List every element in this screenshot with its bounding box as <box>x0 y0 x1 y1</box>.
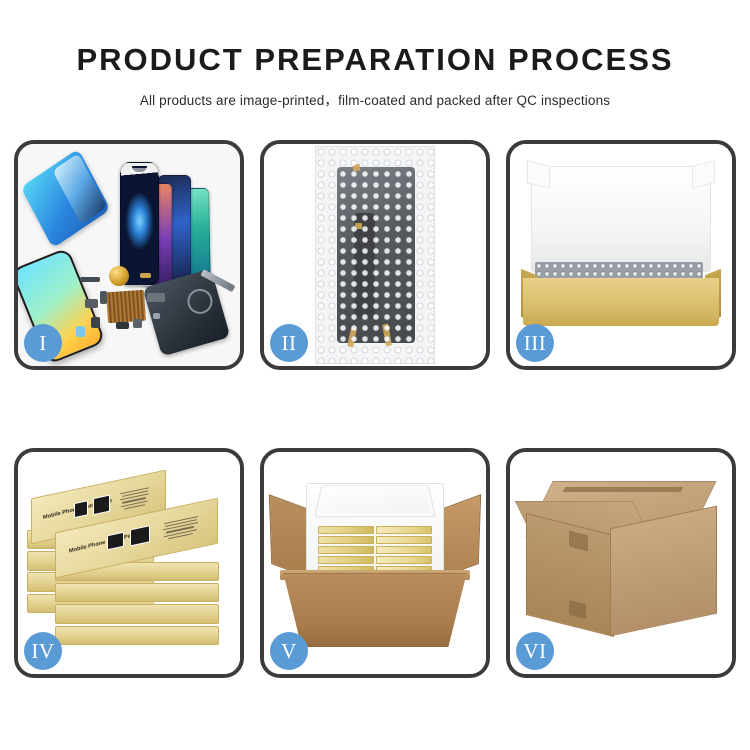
open-kraft-inner-box <box>523 166 718 326</box>
spare-part <box>140 273 151 279</box>
spare-part <box>116 322 129 330</box>
step-badge-3: III <box>516 324 554 362</box>
box-label-spec-lines <box>162 514 203 542</box>
spare-part <box>80 277 100 282</box>
retail-box-column <box>318 526 374 574</box>
carton-tape-seam <box>563 487 684 492</box>
box-label-text: Mobile Phone Spare Parts <box>69 532 138 555</box>
process-step-panel-5[interactable]: V <box>260 448 490 678</box>
carton-body <box>283 573 466 647</box>
box-label-thumbnail <box>74 500 88 518</box>
retail-box <box>376 526 432 534</box>
spare-part <box>76 326 85 337</box>
tape-strip <box>355 223 362 229</box>
process-step-panel-2[interactable]: II <box>260 140 490 370</box>
tape-strip <box>353 164 360 170</box>
bubble-wrap-bag <box>315 146 435 364</box>
process-step-grid: I II <box>14 140 736 682</box>
product-preparation-process-page: PRODUCT PREPARATION PROCESS All products… <box>0 0 750 750</box>
step-badge-4: IV <box>24 632 62 670</box>
process-step-panel-4[interactable]: Mobile Phone Spare Parts <box>14 448 244 678</box>
spare-part <box>147 293 165 302</box>
process-step-panel-1[interactable]: I <box>14 140 244 370</box>
retail-box <box>376 546 432 554</box>
retail-box <box>376 556 432 564</box>
phone-notch-icon <box>131 168 149 173</box>
foam-liner <box>531 166 711 271</box>
box-label-thumbnail <box>107 532 125 551</box>
spare-part <box>100 291 107 304</box>
spare-part <box>85 299 98 308</box>
process-step-panel-3[interactable]: III <box>506 140 736 370</box>
retail-box-column <box>376 526 432 574</box>
open-shipping-carton <box>280 483 471 647</box>
page-subtitle: All products are image-printed，film-coat… <box>0 89 750 109</box>
step-badge-6: VI <box>516 632 554 670</box>
retail-boxes-inside <box>318 526 432 574</box>
step-badge-5: V <box>270 632 308 670</box>
spare-part <box>133 319 142 328</box>
retail-box <box>318 556 374 564</box>
spare-part <box>91 317 100 328</box>
box-label-thumbnail <box>93 494 110 515</box>
retail-box <box>318 526 374 534</box>
sealed-shipping-carton <box>526 481 717 645</box>
retail-box-stack: Mobile Phone Spare Parts <box>27 476 231 654</box>
stacked-box <box>55 604 218 624</box>
retail-box <box>318 546 374 554</box>
carton-right-face <box>610 506 717 637</box>
page-header: PRODUCT PREPARATION PROCESS All products… <box>0 0 750 109</box>
box-label-thumbnail <box>130 525 150 547</box>
process-step-panel-6[interactable]: VI <box>506 448 736 678</box>
step-badge-2: II <box>270 324 308 362</box>
page-title: PRODUCT PREPARATION PROCESS <box>0 44 750 77</box>
retail-box <box>376 536 432 544</box>
wrapped-screen-assembly <box>337 167 415 344</box>
step-badge-1: I <box>24 324 62 362</box>
stacked-box <box>55 583 218 603</box>
stacked-box <box>55 626 218 646</box>
retail-box <box>318 536 374 544</box>
spare-part <box>153 313 160 320</box>
box-front-panel <box>523 278 718 326</box>
box-label-spec-lines <box>118 485 151 512</box>
foam-box-lid <box>314 485 436 517</box>
